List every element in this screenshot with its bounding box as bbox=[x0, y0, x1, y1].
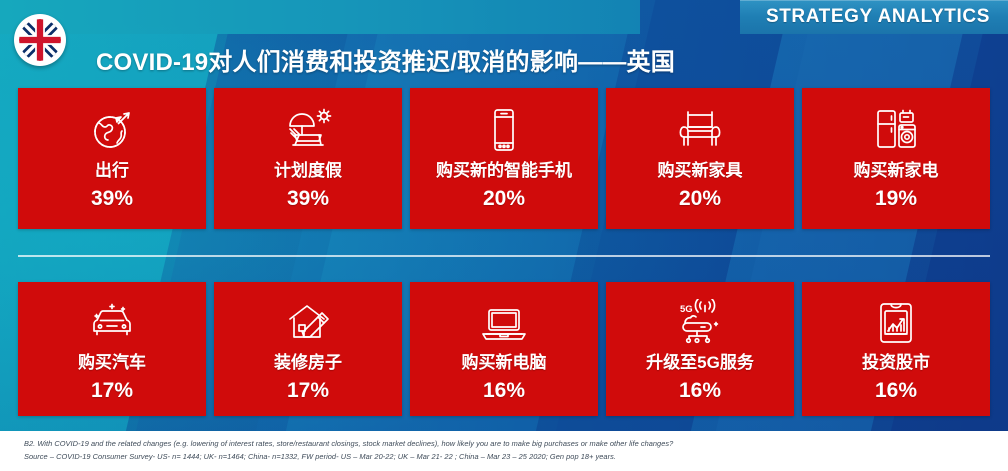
page-title: COVID-19对人们消费和投资推迟/取消的影响——英国 bbox=[96, 42, 675, 77]
brand-logo-text: STRATEGY ANALYTICS bbox=[766, 6, 990, 28]
card-buy-car[interactable]: 购买汽车 17% bbox=[18, 282, 206, 416]
smartphone-icon bbox=[487, 102, 521, 158]
card-label: 升级至5G服务 bbox=[646, 354, 754, 373]
card-travel[interactable]: 出行 39% bbox=[18, 88, 206, 229]
card-label: 购买汽车 bbox=[78, 354, 146, 373]
card-value: 17% bbox=[287, 380, 329, 401]
card-value: 17% bbox=[91, 380, 133, 401]
card-value: 16% bbox=[875, 380, 917, 401]
card-new-furniture[interactable]: 购买新家具 20% bbox=[606, 88, 794, 229]
card-value: 39% bbox=[287, 188, 329, 209]
card-label: 出行 bbox=[95, 162, 129, 181]
footer-notes: B2. With COVID-19 and the related change… bbox=[0, 431, 1008, 471]
card-home-renovation[interactable]: 装修房子 17% bbox=[214, 282, 402, 416]
card-value: 20% bbox=[483, 188, 525, 209]
uk-flag-badge bbox=[14, 14, 66, 66]
card-new-computer[interactable]: 购买新电脑 16% bbox=[410, 282, 598, 416]
card-label: 计划度假 bbox=[274, 162, 342, 181]
card-new-smartphone[interactable]: 购买新的智能手机 20% bbox=[410, 88, 598, 229]
card-label: 购买新家具 bbox=[658, 162, 743, 181]
brand-logo: STRATEGY ANALYTICS bbox=[740, 0, 1008, 34]
card-label: 装修房子 bbox=[274, 354, 342, 373]
appliances-icon bbox=[870, 102, 922, 158]
armchair-icon bbox=[676, 102, 724, 158]
car-icon bbox=[85, 296, 139, 350]
beach-lounger-icon bbox=[281, 102, 335, 158]
card-value: 16% bbox=[679, 380, 721, 401]
globe-airplane-icon bbox=[87, 102, 137, 158]
card-row-2: 购买汽车 17% 装修房子 17% bbox=[18, 282, 990, 416]
svg-text:5G: 5G bbox=[680, 304, 693, 315]
row-divider bbox=[18, 255, 990, 257]
card-value: 19% bbox=[875, 188, 917, 209]
header-bar: STRATEGY ANALYTICS bbox=[0, 0, 1008, 34]
card-value: 39% bbox=[91, 188, 133, 209]
footer-question-text: B2. With COVID-19 and the related change… bbox=[24, 438, 1008, 451]
house-renovation-icon bbox=[284, 296, 332, 350]
card-value: 16% bbox=[483, 380, 525, 401]
card-new-appliances[interactable]: 购买新家电 19% bbox=[802, 88, 990, 229]
slide-root: STRATEGY ANALYTICS COVID-19对人们消费和投资推迟/取消… bbox=[0, 0, 1008, 471]
card-5g-upgrade[interactable]: 5G 升级至5G服务 16% bbox=[606, 282, 794, 416]
stock-chart-tablet-icon bbox=[873, 296, 919, 350]
card-label: 购买新的智能手机 bbox=[436, 162, 572, 181]
card-label: 购买新电脑 bbox=[462, 354, 547, 373]
card-label: 投资股市 bbox=[862, 354, 930, 373]
card-stock-investment[interactable]: 投资股市 16% bbox=[802, 282, 990, 416]
card-label: 购买新家电 bbox=[854, 162, 939, 181]
5g-router-icon: 5G bbox=[671, 296, 729, 350]
laptop-icon bbox=[477, 296, 531, 350]
uk-flag-icon bbox=[19, 19, 61, 61]
card-holiday-plan[interactable]: 计划度假 39% bbox=[214, 88, 402, 229]
card-value: 20% bbox=[679, 188, 721, 209]
footer-source-text: Source – COVID-19 Consumer Survey- US- n… bbox=[24, 451, 1008, 464]
card-row-1: 出行 39% 计划度假 39% bbox=[18, 88, 990, 229]
